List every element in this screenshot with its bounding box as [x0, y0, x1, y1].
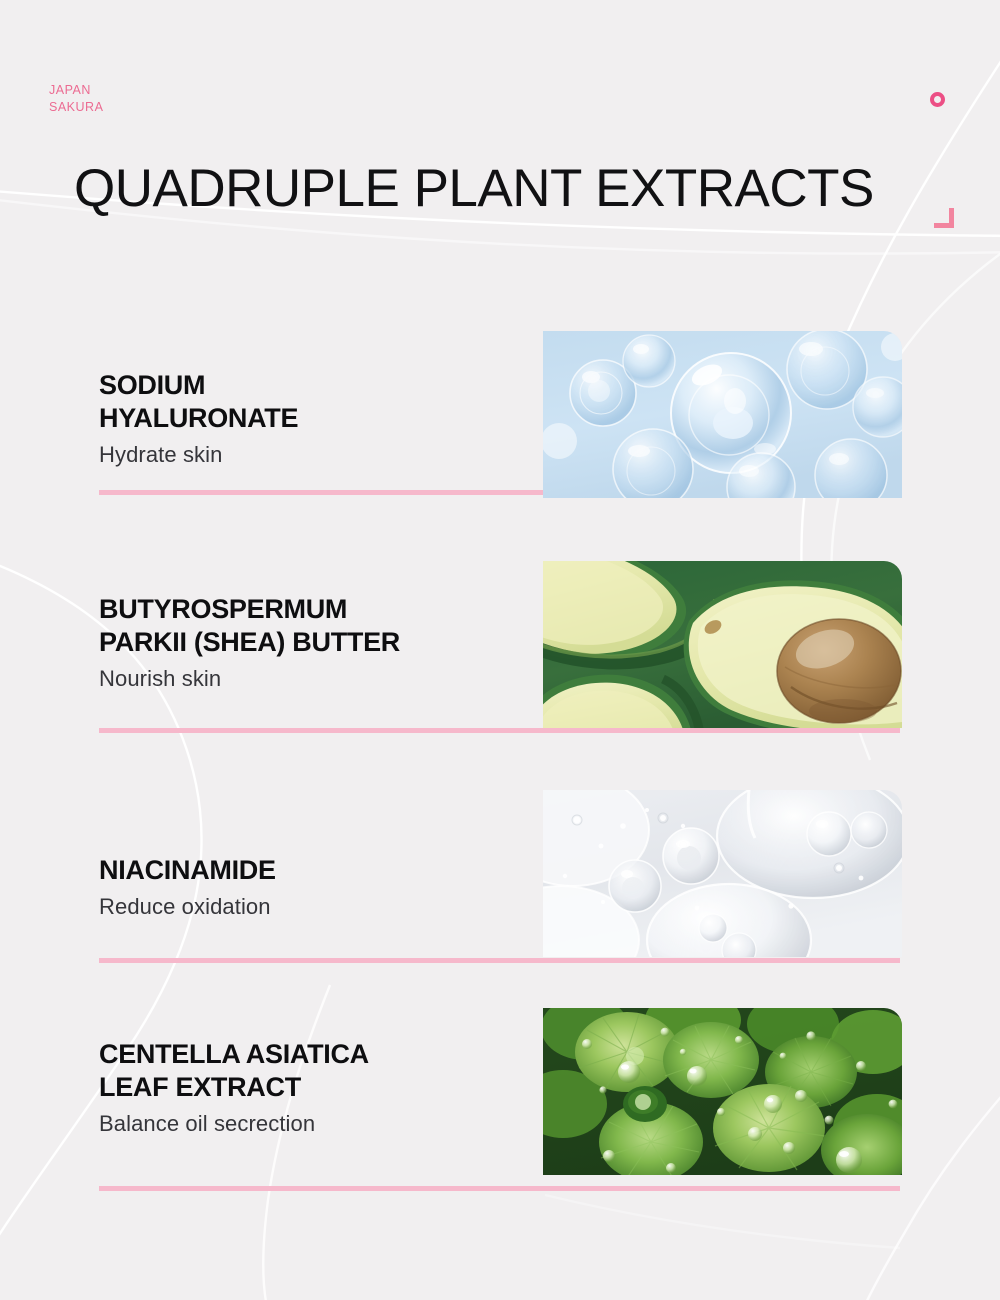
ingredient-name: NIACINAMIDE — [99, 854, 539, 887]
page-title: QUADRUPLE PLANT EXTRACTS — [74, 158, 954, 219]
ingredient-description: Hydrate skin — [99, 442, 539, 468]
clear-gel-bubbles-photo — [543, 790, 902, 957]
ingredient-description: Reduce oxidation — [99, 894, 539, 920]
centella-leaves-photo — [543, 1008, 902, 1175]
row-divider — [99, 958, 900, 963]
row-divider — [99, 1186, 900, 1191]
ingredient-name: BUTYROSPERMUM PARKII (SHEA) BUTTER — [99, 593, 539, 659]
ring-outline-icon — [930, 92, 945, 107]
brand-line-1: JAPAN — [49, 82, 103, 99]
infographic-page: JAPAN SAKURA QUADRUPLE PLANT EXTRACTS SO… — [0, 0, 1000, 1300]
water-bubbles-photo — [543, 331, 902, 498]
ingredient-description: Balance oil secrection — [99, 1111, 539, 1137]
avocado-photo — [543, 561, 902, 728]
ingredient-name: CENTELLA ASIATICA LEAF EXTRACT — [99, 1038, 539, 1104]
row-divider — [99, 728, 900, 733]
ingredient-text-block: CENTELLA ASIATICA LEAF EXTRACT Balance o… — [99, 1038, 539, 1137]
ingredient-text-block: BUTYROSPERMUM PARKII (SHEA) BUTTER Nouri… — [99, 593, 539, 692]
ingredient-text-block: NIACINAMIDE Reduce oxidation — [99, 854, 539, 920]
ingredient-description: Nourish skin — [99, 666, 539, 692]
ingredient-text-block: SODIUM HYALURONATE Hydrate skin — [99, 369, 539, 468]
brand-logo: JAPAN SAKURA — [49, 82, 103, 115]
ingredient-name: SODIUM HYALURONATE — [99, 369, 539, 435]
brand-line-2: SAKURA — [49, 99, 103, 116]
